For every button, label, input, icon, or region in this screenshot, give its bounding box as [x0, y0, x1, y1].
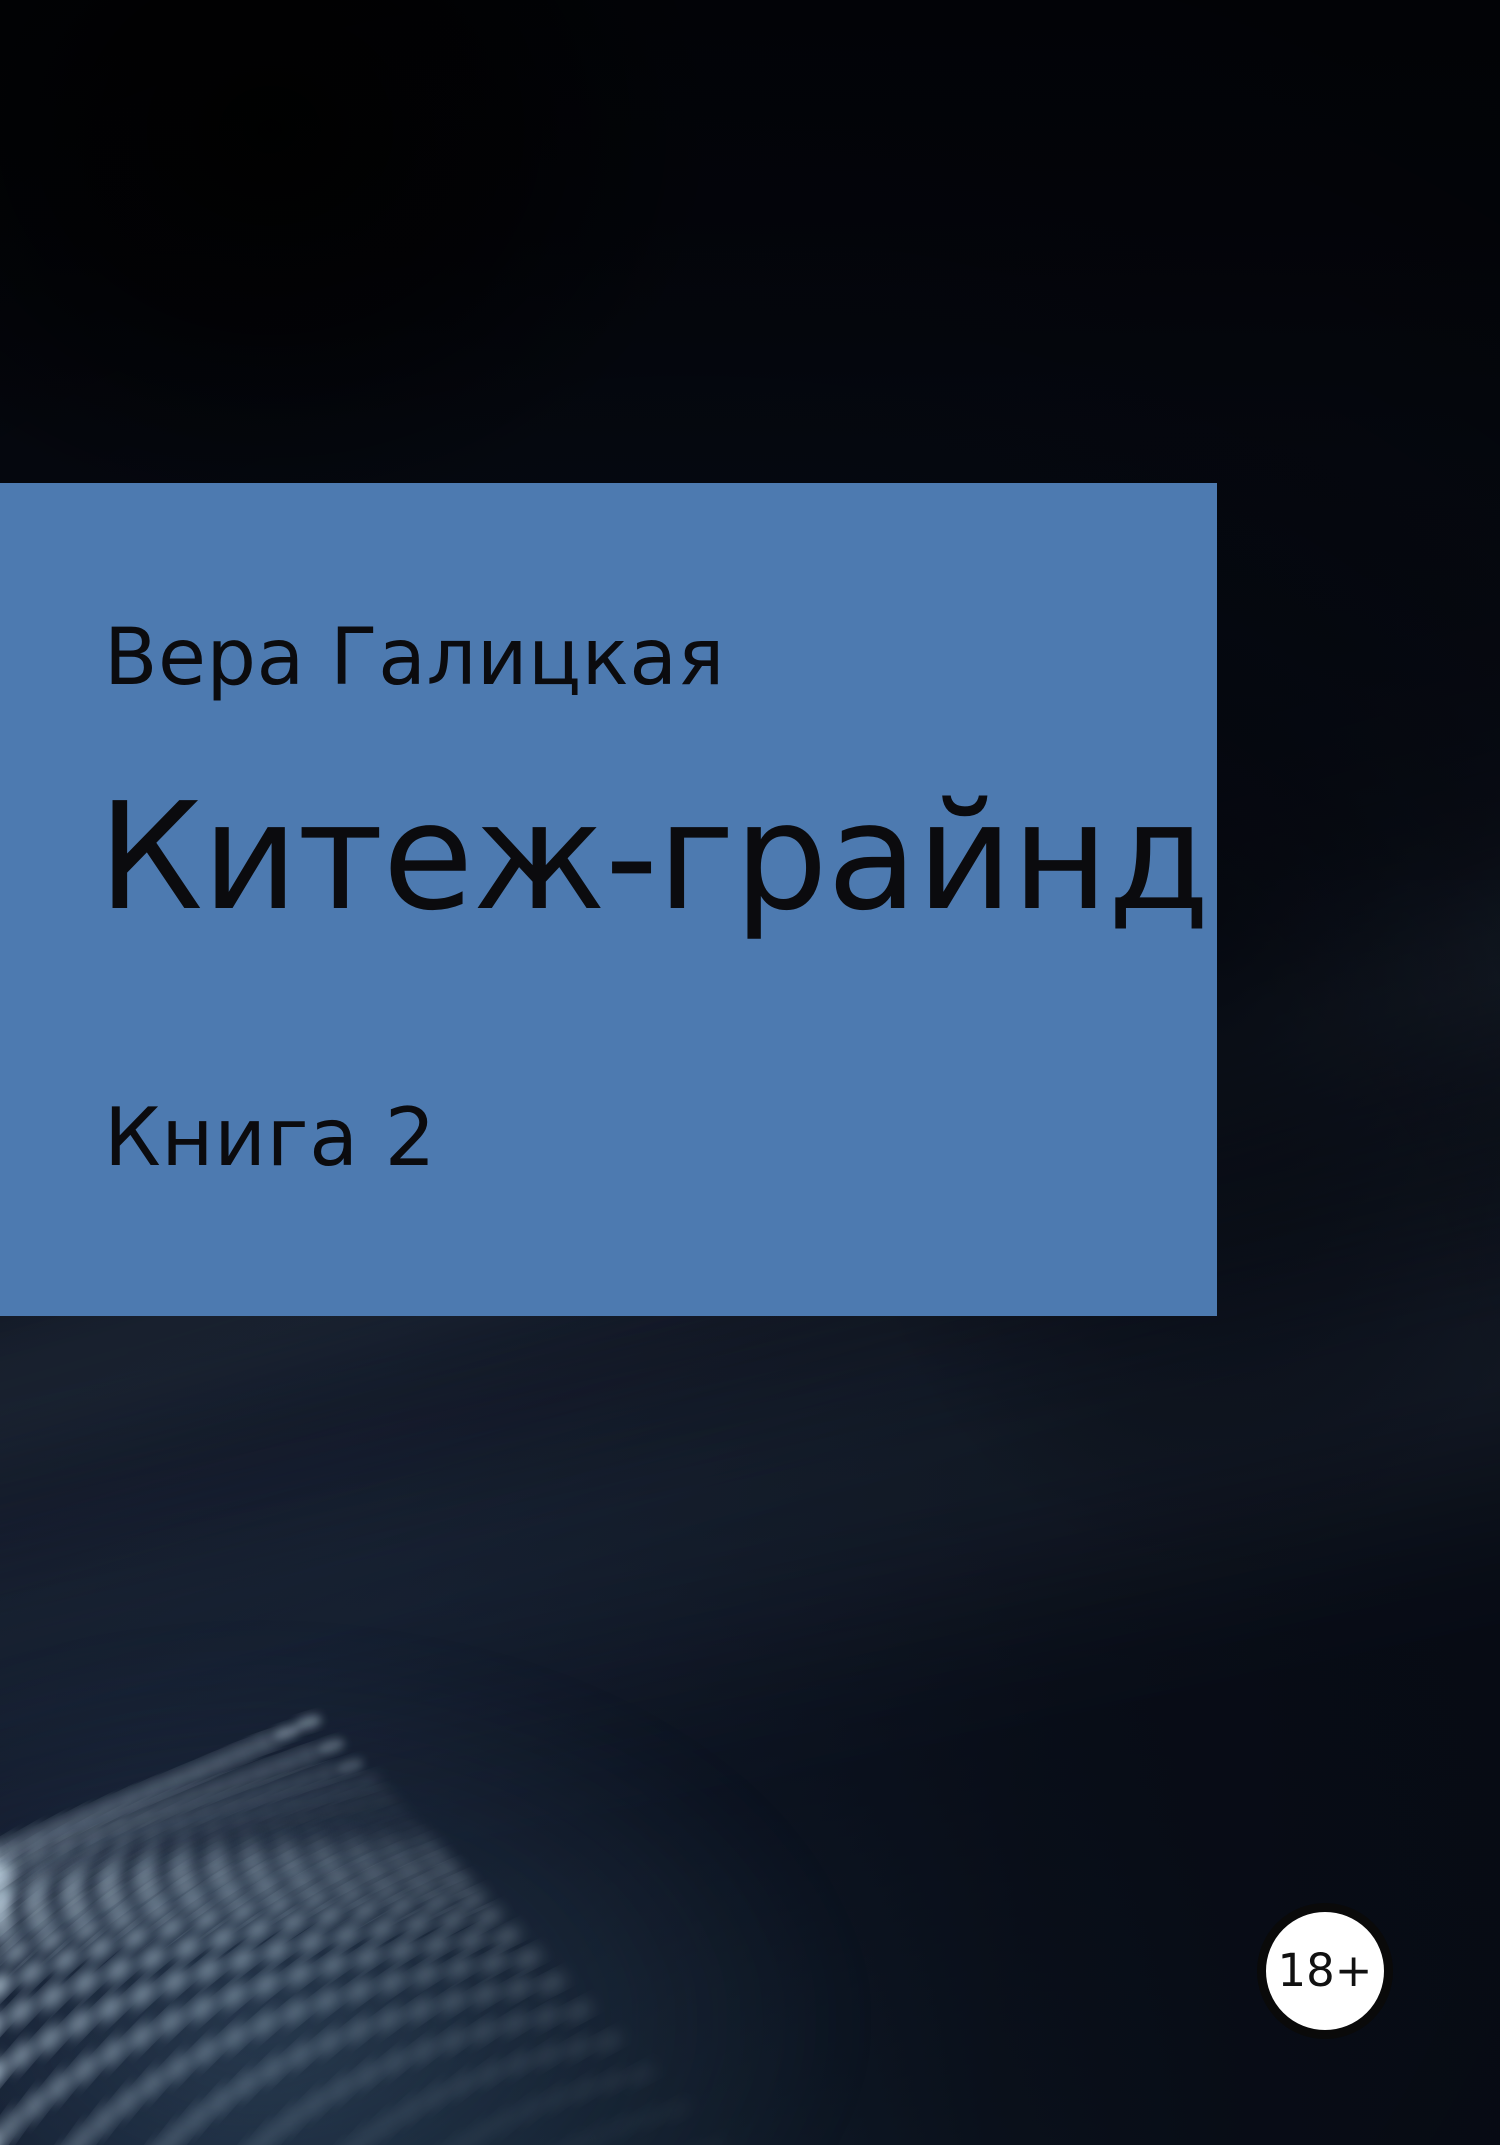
age-rating-badge: 18+ — [1257, 1903, 1393, 2039]
series-label: Книга 2 — [104, 1098, 436, 1178]
page-title: Китеж-грайнд — [98, 783, 1209, 931]
background-top-left-shadow — [0, 0, 720, 520]
background-bottom-left-glow — [0, 1640, 860, 2145]
book-cover: Вера Галицкая Китеж-грайнд Книга 2 18+ — [0, 0, 1500, 2145]
age-rating-label: 18+ — [1278, 1948, 1373, 1993]
author-name: Вера Галицкая — [104, 619, 725, 697]
